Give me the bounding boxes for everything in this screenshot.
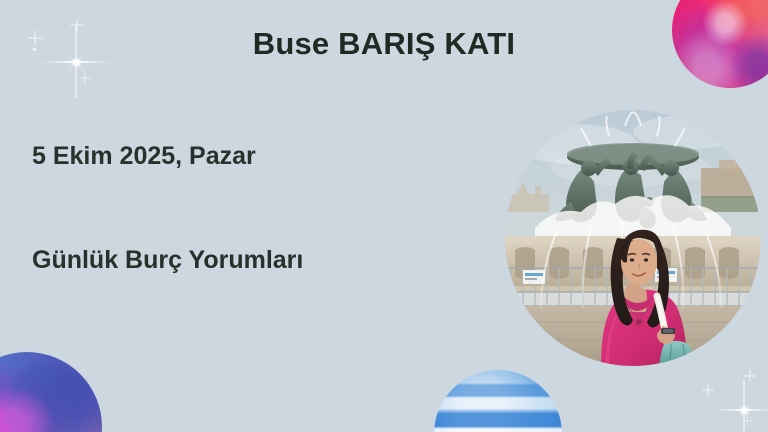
sparkle-icon-small-1: [702, 384, 714, 396]
section-title: Günlük Burç Yorumları: [32, 246, 303, 275]
horoscope-banner: Buse BARIŞ KATI 5 Ekim 2025, Pazar Günlü…: [0, 0, 768, 432]
watercolor-circle-bottom-center: [434, 370, 562, 432]
sparkle-icon-small-3: [742, 416, 752, 426]
sparkle-beam-diagonal-2: [734, 400, 755, 421]
author-photo-image: [505, 110, 761, 366]
sparkle-icon-small-3: [79, 72, 90, 83]
sparkle-star-large: [714, 380, 768, 432]
page-title: Buse BARIŞ KATI: [0, 26, 768, 62]
sparkle-icon-small-2: [744, 370, 756, 382]
sparkle-core: [739, 405, 750, 416]
sparkle-beam-horizontal: [714, 409, 768, 411]
sparkle-beam-diagonal-1: [734, 400, 755, 421]
sparkle-beam-vertical: [743, 380, 745, 432]
author-photo-avatar: [505, 110, 761, 366]
sparkle-icon-bottom-right: [700, 368, 768, 432]
watercolor-circle-bottom-left: [0, 352, 102, 432]
publication-date: 5 Ekim 2025, Pazar: [32, 142, 256, 171]
